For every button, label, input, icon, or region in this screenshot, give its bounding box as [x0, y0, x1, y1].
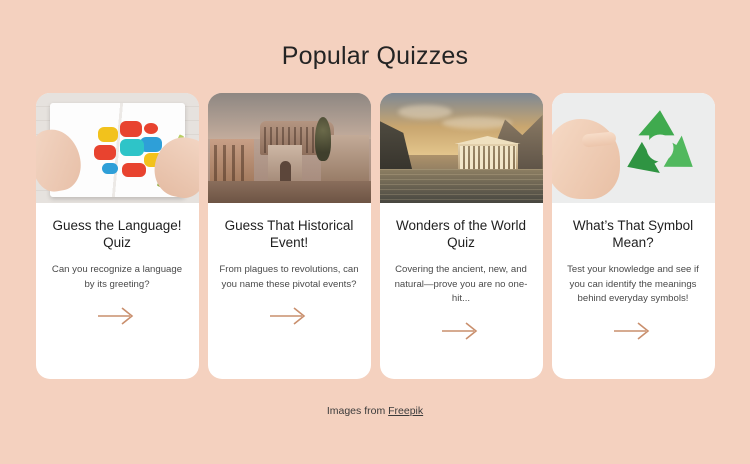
quiz-card-title-wonders: Wonders of the World Quiz — [391, 217, 532, 251]
quiz-card-historical-event[interactable]: The Roman Colosseum and Forum ruins in w… — [208, 93, 371, 379]
quiz-card-list: Hands with red nail polish over an open … — [0, 93, 750, 379]
recycle-icon — [614, 103, 706, 193]
quiz-card-image-wonders: Ancient Greek temple beside water at gol… — [380, 93, 543, 203]
quiz-card-title-language: Guess the Language! Quiz — [47, 217, 188, 251]
quiz-card-title-historical-event: Guess That Historical Event! — [219, 217, 360, 251]
quiz-card-description-language: Can you recognize a language by its gree… — [47, 263, 188, 292]
quiz-card-symbol[interactable]: A hand holding a green paper recycling s… — [552, 93, 715, 379]
quiz-card-image-symbol: A hand holding a green paper recycling s… — [552, 93, 715, 203]
arrow-right-icon[interactable] — [440, 321, 482, 341]
arrow-right-icon[interactable] — [612, 321, 654, 341]
quiz-card-description-historical-event: From plagues to revolutions, can you nam… — [219, 263, 360, 292]
arrow-right-icon[interactable] — [96, 306, 138, 326]
freepik-link[interactable]: Freepik — [388, 405, 423, 417]
quiz-card-image-historical-event: The Roman Colosseum and Forum ruins in w… — [208, 93, 371, 203]
quiz-card-image-alt-symbol: A hand holding a green paper recycling s… — [552, 93, 553, 94]
quiz-card-description-symbol: Test your knowledge and see if you can i… — [563, 263, 704, 307]
quiz-card-wonders[interactable]: Ancient Greek temple beside water at gol… — [380, 93, 543, 379]
quiz-card-language[interactable]: Hands with red nail polish over an open … — [36, 93, 199, 379]
arrow-right-icon[interactable] — [268, 306, 310, 326]
quiz-card-image-language: Hands with red nail polish over an open … — [36, 93, 199, 203]
page-title: Popular Quizzes — [0, 0, 750, 71]
image-credit-prefix: Images from — [327, 405, 388, 417]
quiz-card-description-wonders: Covering the ancient, new, and natural—p… — [391, 263, 532, 307]
quiz-card-title-symbol: What’s That Symbol Mean? — [563, 217, 704, 251]
image-credit: Images from Freepik — [0, 405, 750, 417]
